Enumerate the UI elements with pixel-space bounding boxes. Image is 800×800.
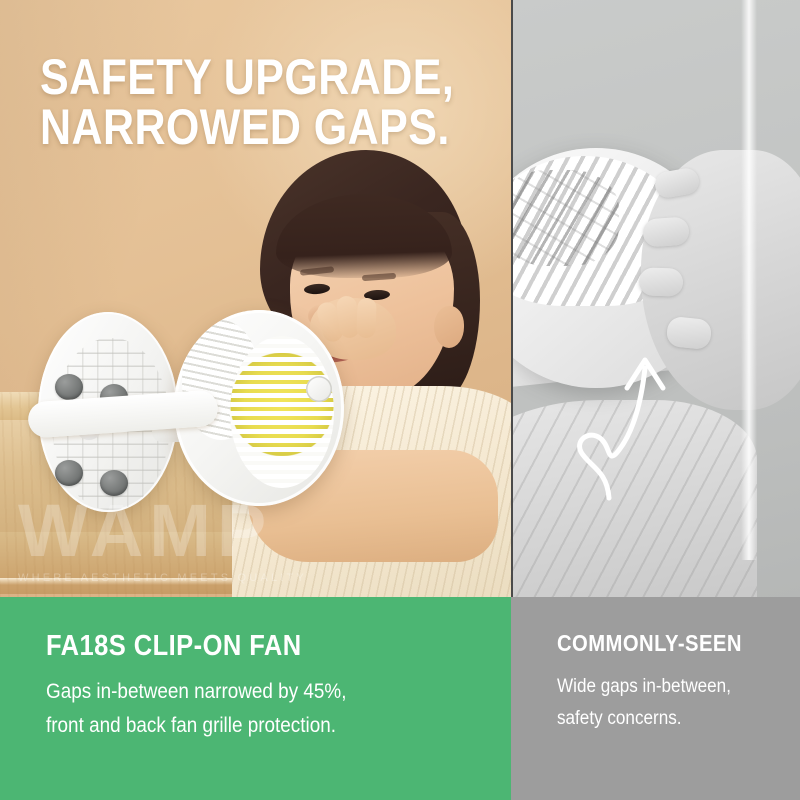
adult-finger: [642, 216, 690, 247]
right-caption-line-2: safety concerns.: [557, 703, 731, 735]
right-caption-line-1: Wide gaps in-between,: [557, 671, 731, 703]
left-product-photo: WAMP WHERE AESTHETIC MEETS QUALITY SAFET…: [0, 0, 511, 597]
fan-power-button: [306, 376, 332, 402]
adult-finger: [639, 267, 684, 297]
wide-gap-openings: [513, 170, 619, 266]
child-finger: [356, 298, 376, 339]
left-caption-band: FA18S CLIP-ON FAN Gaps in-between narrow…: [0, 597, 511, 800]
left-caption-line-2: front and back fan grille protection.: [46, 709, 346, 743]
left-caption-body: Gaps in-between narrowed by 45%, front a…: [46, 675, 346, 743]
curved-up-arrow-icon: [567, 330, 697, 500]
clamp-grip-pad: [55, 460, 83, 486]
clamp-grip-pad: [100, 470, 128, 496]
marketing-banner: WAMP WHERE AESTHETIC MEETS QUALITY SAFET…: [0, 0, 800, 800]
right-caption-body: Wide gaps in-between, safety concerns.: [557, 671, 731, 735]
ear: [434, 306, 464, 348]
clip-on-fan-product: [34, 300, 334, 530]
right-caption-title: COMMONLY-SEEN: [557, 630, 742, 657]
grille-bars: [230, 336, 334, 488]
left-caption-line-1: Gaps in-between narrowed by 45%,: [46, 675, 346, 709]
right-comparison-photo: [513, 0, 800, 597]
headline-line-1: SAFETY UPGRADE,: [40, 52, 436, 102]
panel-divider: [511, 0, 513, 597]
fan-front-grille: [230, 336, 334, 488]
background-highlight-strip: [741, 0, 757, 560]
right-caption-band: COMMONLY-SEEN Wide gaps in-between, safe…: [511, 597, 800, 800]
headline: SAFETY UPGRADE, NARROWED GAPS.: [40, 52, 436, 152]
left-caption-title: FA18S CLIP-ON FAN: [46, 630, 302, 663]
headline-line-2: NARROWED GAPS.: [40, 102, 436, 152]
clamp-grip-pad: [55, 374, 83, 400]
